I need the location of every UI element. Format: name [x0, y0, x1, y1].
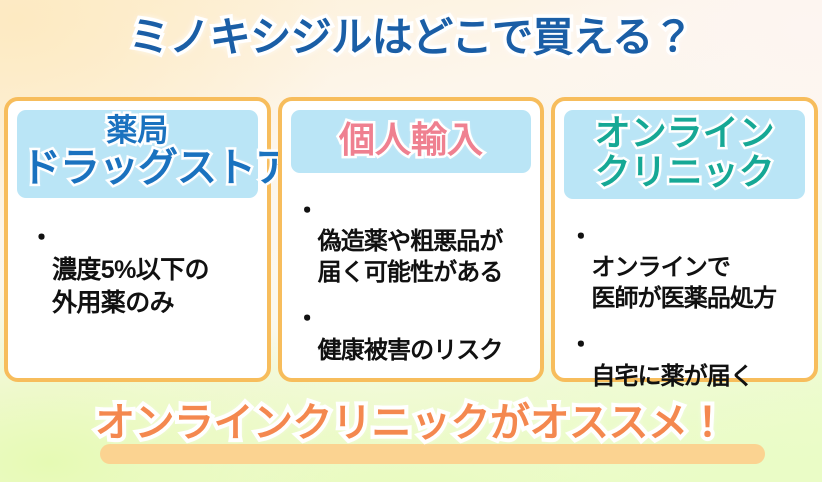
bullet-dot-icon: ・: [568, 221, 592, 254]
infographic-canvas: ミノキシジルはどこで買える？ 薬局 ドラッグストア ・濃度5%以下の 外用薬のみ…: [0, 0, 822, 482]
conclusion-banner: オンラインクリニックがオススメ！: [0, 392, 822, 482]
card-personal-import: 個人輸入 ・偽造薬や粗悪品が 届く可能性がある ・健康被害のリスク: [278, 97, 545, 382]
list-item-text: オンラインで 医師が医薬品処方: [591, 254, 776, 312]
card-personal-import-header-line-1: 個人輸入: [295, 114, 528, 166]
card-online-clinic-header-line-2: クリニック: [568, 153, 801, 192]
title-area: ミノキシジルはどこで買える？: [0, 13, 822, 62]
card-pharmacy: 薬局 ドラッグストア ・濃度5%以下の 外用薬のみ: [4, 97, 271, 382]
card-pharmacy-body: ・濃度5%以下の 外用薬のみ: [17, 198, 258, 378]
card-pharmacy-header: 薬局 ドラッグストア: [17, 110, 258, 198]
list-item: ・健康被害のリスク: [295, 303, 530, 365]
list-item: ・濃度5%以下の 外用薬のみ: [29, 222, 256, 320]
bullet-dot-icon: ・: [29, 222, 53, 255]
list-item-text: 濃度5%以下の 外用薬のみ: [52, 256, 209, 317]
list-item: ・オンラインで 医師が医薬品処方: [568, 221, 803, 315]
list-item-text: 自宅に薬が届く: [591, 363, 753, 390]
bullet-dot-icon: ・: [295, 195, 319, 228]
card-online-clinic: オンライン クリニック ・オンラインで 医師が医薬品処方 ・自宅に薬が届く: [551, 97, 818, 382]
card-personal-import-body: ・偽造薬や粗悪品が 届く可能性がある ・健康被害のリスク: [291, 173, 532, 378]
list-item: ・自宅に薬が届く: [568, 329, 803, 391]
banner-text: オンラインクリニックがオススメ！: [0, 399, 822, 447]
comparison-card-row: 薬局 ドラッグストア ・濃度5%以下の 外用薬のみ 個人輸入 ・偽造薬や粗悪品が…: [4, 97, 818, 382]
list-item-text: 健康被害のリスク: [318, 337, 503, 364]
bullet-dot-icon: ・: [295, 303, 319, 336]
card-pharmacy-header-line-1: 薬局: [21, 114, 254, 147]
banner-highlight-bar: [100, 444, 765, 464]
bullet-dot-icon: ・: [568, 329, 592, 362]
list-item-text: 偽造薬や粗悪品が 届く可能性がある: [318, 228, 503, 286]
list-item: ・偽造薬や粗悪品が 届く可能性がある: [295, 195, 530, 289]
card-online-clinic-body: ・オンラインで 医師が医薬品処方 ・自宅に薬が届く: [564, 199, 805, 392]
card-online-clinic-header-line-1: オンライン: [568, 114, 801, 153]
page-title: ミノキシジルはどこで買える？: [129, 13, 694, 62]
card-online-clinic-header: オンライン クリニック: [564, 110, 805, 199]
card-personal-import-header: 個人輸入: [291, 110, 532, 173]
card-pharmacy-header-line-2: ドラッグストア: [21, 147, 254, 190]
